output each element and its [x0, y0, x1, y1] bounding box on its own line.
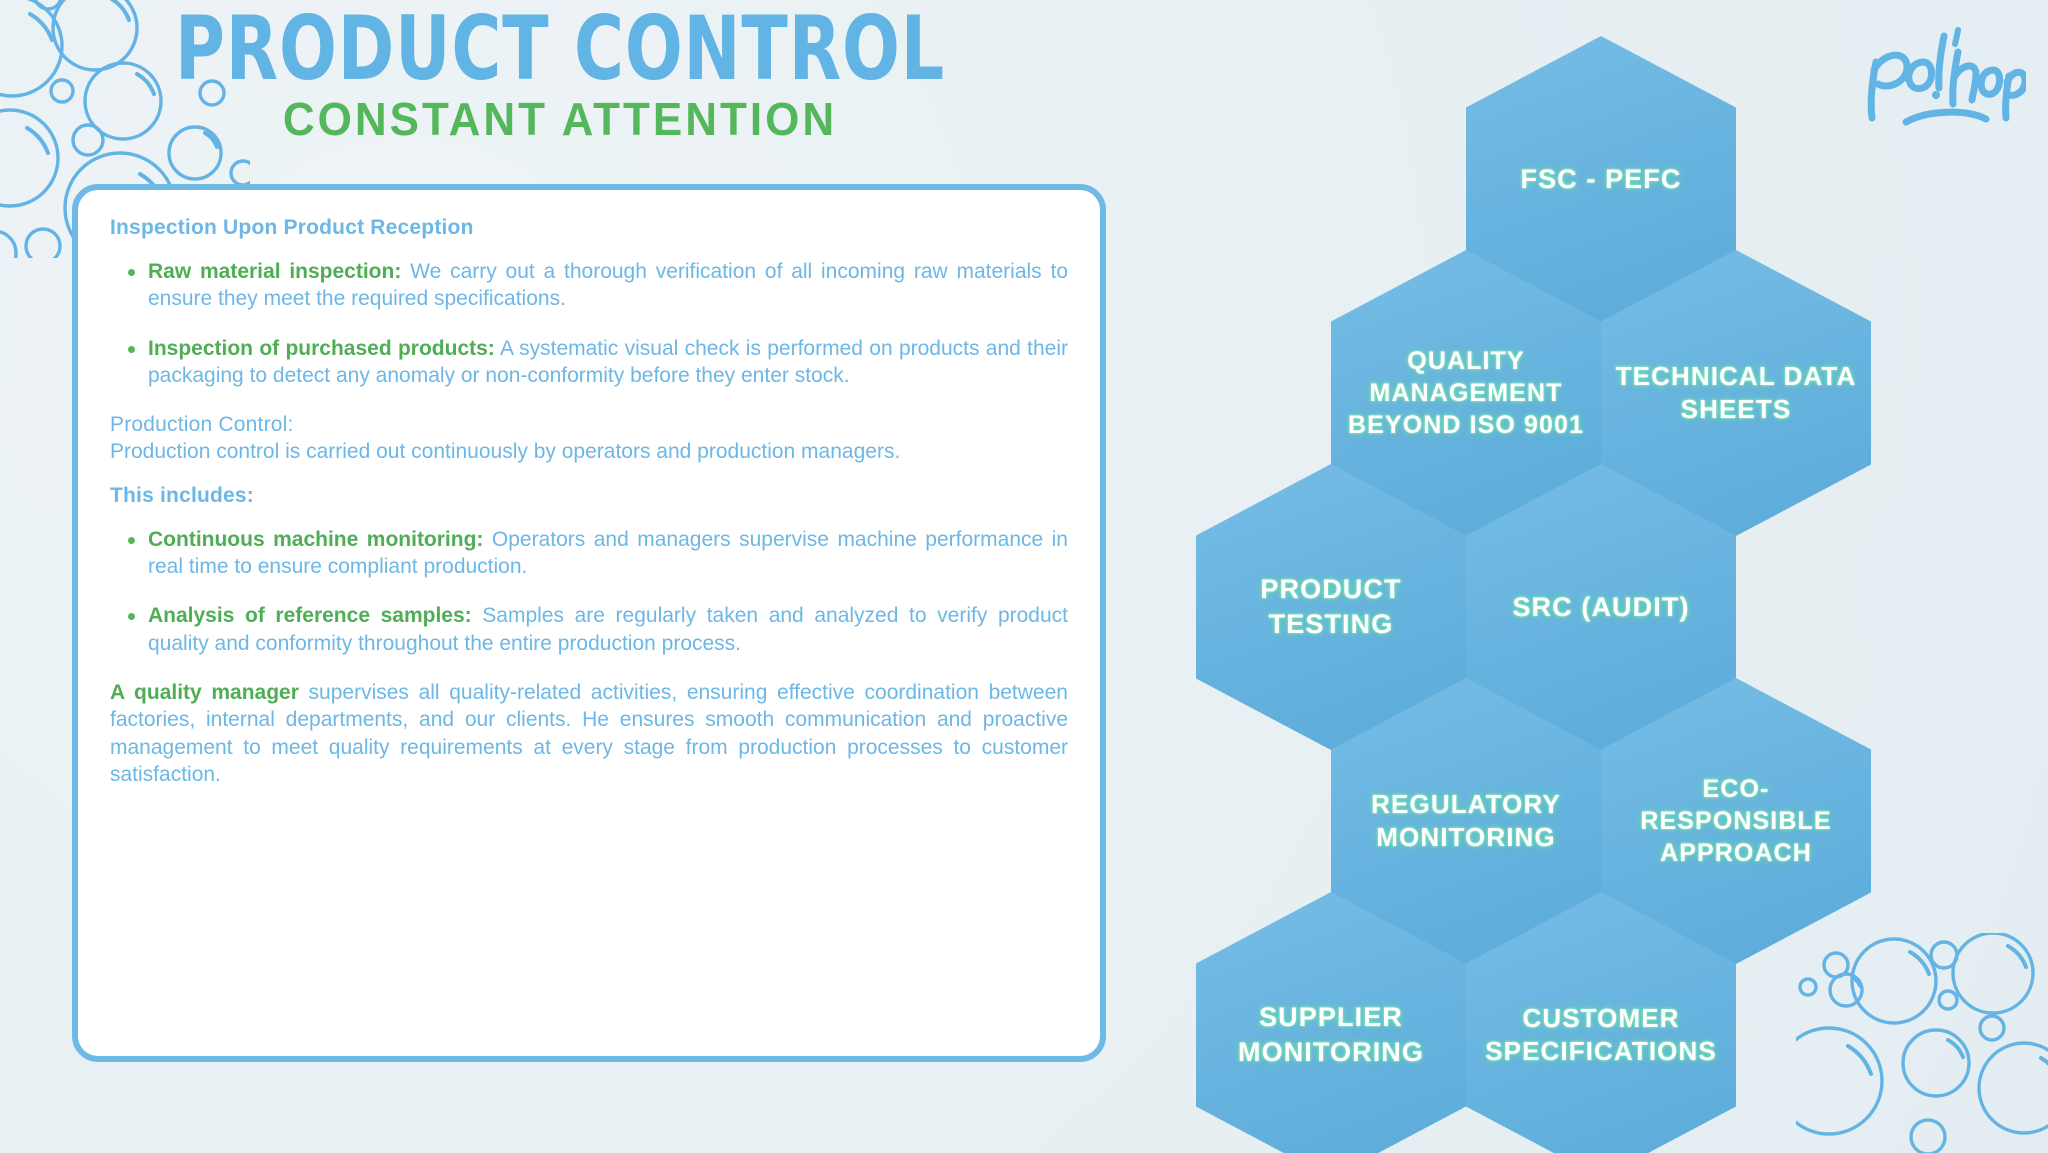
- hexagon-label: CUSTOMER SPECIFICATIONS: [1466, 1002, 1736, 1069]
- list-item: Raw material inspection: We carry out a …: [110, 258, 1068, 313]
- hexagon-label: REGULATORY MONITORING: [1331, 788, 1601, 855]
- section-heading-inspection: Inspection Upon Product Reception: [110, 216, 1068, 240]
- bullet-list-inspection: Raw material inspection: We carry out a …: [110, 258, 1068, 389]
- page-subtitle: CONSTANT ATTENTION: [0, 94, 1120, 147]
- production-control-block: Production Control: Production control i…: [110, 411, 1068, 466]
- bullet-lead: Analysis of reference samples:: [148, 604, 472, 627]
- list-item: Inspection of purchased products: A syst…: [110, 335, 1068, 390]
- content-card: Inspection Upon Product Reception Raw ma…: [72, 184, 1106, 1062]
- closing-paragraph: A quality manager supervises all quality…: [110, 679, 1068, 788]
- hexagon-label: FSC - PEFC: [1508, 162, 1693, 197]
- bullet-lead: Raw material inspection:: [148, 260, 401, 283]
- polhop-logo: [1866, 18, 2026, 133]
- hexagon-label: TECHNICAL DATA SHEETS: [1601, 360, 1871, 427]
- hexagon-label: SRC (AUDIT): [1500, 590, 1701, 625]
- this-includes-label: This includes:: [110, 484, 1068, 508]
- hexagon-label: PRODUCT TESTING: [1196, 572, 1466, 641]
- bullet-lead: Continuous machine monitoring:: [148, 528, 483, 551]
- production-control-text: Production control is carried out contin…: [110, 440, 900, 463]
- header: PRODUCT CONTROL CONSTANT ATTENTION: [0, 6, 1120, 145]
- bullet-list-includes: Continuous machine monitoring: Operators…: [110, 526, 1068, 657]
- hexagon-label: ECO-RESPONSIBLE APPROACH: [1601, 773, 1871, 869]
- bullet-lead: Inspection of purchased products:: [148, 337, 495, 360]
- list-item: Continuous machine monitoring: Operators…: [110, 526, 1068, 581]
- closing-lead: A quality manager: [110, 681, 299, 704]
- page-title: PRODUCT CONTROL: [78, 6, 1041, 91]
- hexagon-label: QUALITY MANAGEMENT BEYOND ISO 9001: [1331, 345, 1601, 441]
- production-control-label: Production Control:: [110, 413, 294, 436]
- list-item: Analysis of reference samples: Samples a…: [110, 602, 1068, 657]
- hexagon-label: SUPPLIER MONITORING: [1196, 1000, 1466, 1069]
- hexagon-diagram: FSC - PEFC QUALITY MANAGEMENT BEYOND ISO…: [1128, 28, 2048, 1153]
